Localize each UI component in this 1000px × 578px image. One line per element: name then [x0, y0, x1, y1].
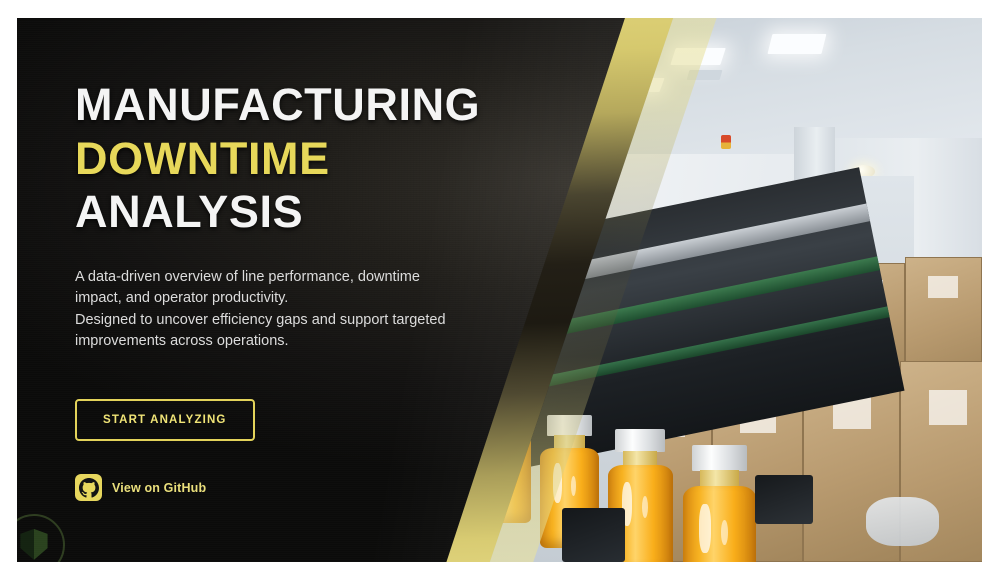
start-analyzing-button[interactable]: START ANALYZING — [75, 399, 255, 441]
ceiling-light-icon — [767, 34, 826, 54]
conveyor-clamp — [755, 475, 813, 524]
subcopy-line-2: impact, and operator productivity. — [75, 288, 495, 309]
subcopy-line-4: improvements across operations. — [75, 331, 495, 352]
hero-slide: MANUFACTURING DOWNTIME ANALYSIS A data-d… — [17, 18, 982, 562]
conveyor-clamp — [562, 508, 625, 562]
hero-content: MANUFACTURING DOWNTIME ANALYSIS A data-d… — [75, 78, 515, 501]
headline-line-1: MANUFACTURING — [75, 78, 515, 132]
stack-light-icon — [721, 135, 731, 149]
juice-bottle — [683, 445, 756, 562]
page-title: MANUFACTURING DOWNTIME ANALYSIS — [75, 78, 515, 239]
watermark-logo: كفيل — [17, 514, 65, 562]
hero-subcopy: A data-driven overview of line performan… — [75, 267, 495, 353]
view-on-github-link[interactable]: View on GitHub — [75, 474, 515, 501]
subcopy-line-1: A data-driven overview of line performan… — [75, 267, 495, 288]
github-link-label: View on GitHub — [112, 481, 206, 495]
subcopy-line-3: Designed to uncover efficiency gaps and … — [75, 310, 495, 331]
headline-line-3: ANALYSIS — [75, 185, 515, 239]
floor-object — [866, 497, 938, 546]
headline-line-2: DOWNTIME — [75, 132, 515, 186]
github-icon[interactable] — [75, 474, 102, 501]
